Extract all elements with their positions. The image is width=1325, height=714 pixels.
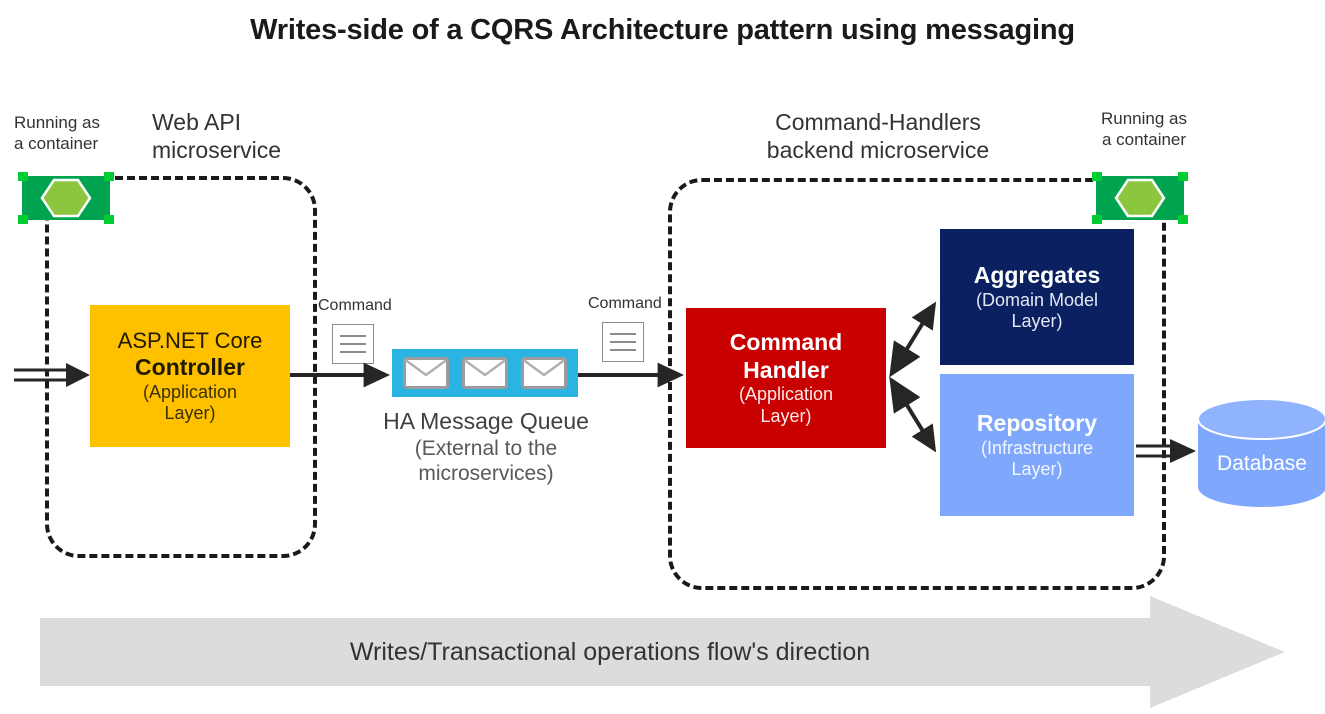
command-label: Command bbox=[318, 297, 392, 315]
label-webapi-microservice: Web API microservice bbox=[152, 108, 281, 164]
container-icon bbox=[1092, 172, 1188, 224]
queue-subtitle: (External to the microservices) bbox=[372, 436, 600, 486]
node-command-handler[interactable]: Command Handler (Application Layer) bbox=[686, 308, 886, 448]
flow-direction-label: Writes/Transactional operations flow's d… bbox=[40, 596, 1180, 708]
ha-message-queue-bar[interactable] bbox=[392, 349, 578, 397]
command-label: Command bbox=[588, 295, 662, 313]
caption-running-as-container-right: Running as a container bbox=[1090, 108, 1198, 151]
envelope-icon bbox=[521, 357, 567, 389]
node-aggregates[interactable]: Aggregates (Domain Model Layer) bbox=[940, 229, 1134, 365]
node-controller-title: ASP.NET Core bbox=[118, 328, 263, 354]
queue-title: HA Message Queue bbox=[372, 408, 600, 436]
label-backend-microservice: Command-Handlers backend microservice bbox=[668, 108, 1088, 164]
diagram-canvas: Writes-side of a CQRS Architecture patte… bbox=[0, 0, 1325, 714]
container-icon bbox=[18, 172, 114, 224]
queue-caption: HA Message Queue (External to the micros… bbox=[372, 408, 600, 486]
node-controller-layer: (Application Layer) bbox=[143, 382, 237, 424]
document-icon bbox=[332, 324, 374, 364]
node-controller-subtitle-bold: Controller bbox=[135, 354, 245, 382]
node-repository-layer: (Infrastructure Layer) bbox=[981, 438, 1093, 480]
node-aggregates-title: Aggregates bbox=[974, 262, 1101, 290]
envelope-icon bbox=[462, 357, 508, 389]
node-aspnet-core-controller[interactable]: ASP.NET Core Controller (Application Lay… bbox=[90, 305, 290, 447]
node-repository-title: Repository bbox=[977, 410, 1097, 438]
node-repository[interactable]: Repository (Infrastructure Layer) bbox=[940, 374, 1134, 516]
page-title: Writes-side of a CQRS Architecture patte… bbox=[0, 14, 1325, 47]
node-aggregates-layer: (Domain Model Layer) bbox=[976, 290, 1098, 332]
document-icon bbox=[602, 322, 644, 362]
node-command-handler-layer: (Application Layer) bbox=[739, 384, 833, 426]
envelope-icon bbox=[403, 357, 449, 389]
node-command-handler-title: Command Handler bbox=[730, 329, 842, 384]
database-label: Database bbox=[1196, 452, 1325, 476]
caption-running-as-container-left: Running as a container bbox=[14, 112, 100, 155]
